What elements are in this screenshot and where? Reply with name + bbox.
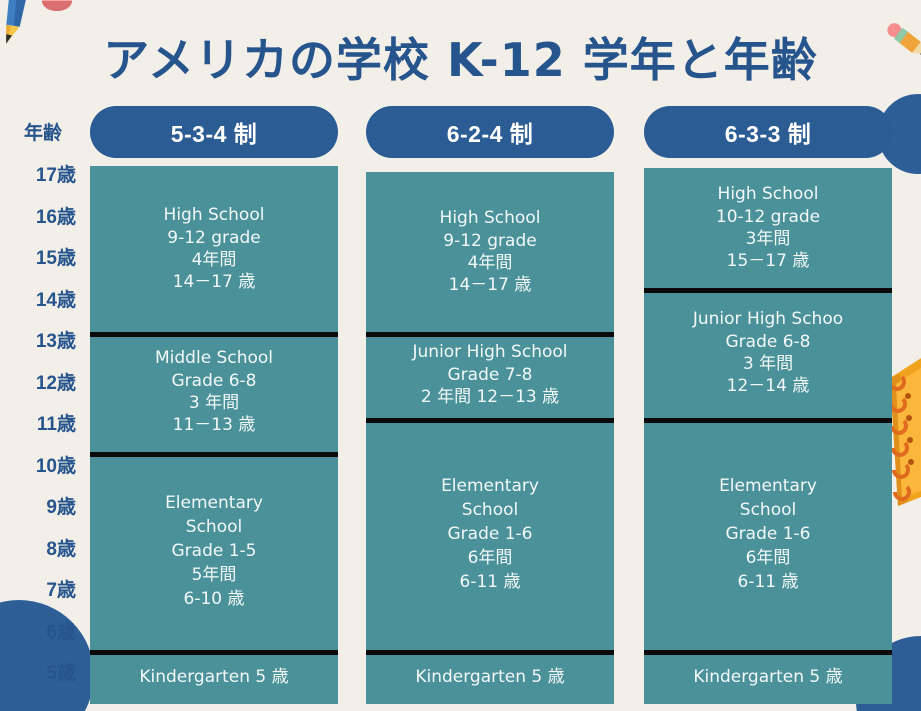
segment-line: Kindergarten 5 歳 — [415, 666, 564, 688]
segment-line: Kindergarten 5 歳 — [139, 666, 288, 688]
segment-system-6-3-3-junior-high-school[interactable]: Junior High SchooGrade 6-83 年間12－14 歳 — [644, 288, 892, 418]
segment-system-6-2-4-junior-high-school[interactable]: Junior High SchoolGrade 7-82 年間 12－13 歳 — [366, 332, 614, 418]
segment-line: Elementary — [719, 474, 817, 498]
age-tick: 5歳 — [0, 664, 86, 683]
segment-line: 4年間 — [468, 252, 513, 274]
segment-system-6-2-4-high-school[interactable]: High School9-12 grade4年間14－17 歳 — [366, 172, 614, 332]
blue-circle-decoration-bottom-left — [0, 600, 94, 711]
age-tick: 13歳 — [0, 332, 86, 351]
column-stack-system-6-3-3: High School10-12 grade3年間15－17 歳Junior H… — [644, 168, 892, 704]
segment-line: Grade 1-6 — [448, 522, 533, 546]
age-tick: 9歳 — [0, 498, 86, 517]
column-stack-system-6-2-4: High School9-12 grade4年間14－17 歳Junior Hi… — [366, 172, 614, 704]
column-stack-system-5-3-4: High School9-12 grade4年間14－17 歳Middle Sc… — [90, 166, 338, 704]
segment-line: 6年間 — [746, 546, 791, 570]
age-tick: 8歳 — [0, 540, 86, 559]
page-title: アメリカの学校 K-12 学年と年齢 — [0, 24, 921, 90]
segment-system-5-3-4-middle-school[interactable]: Middle SchoolGrade 6-83 年間11－13 歳 — [90, 332, 338, 452]
column-header-label: 6-2-4 制 — [447, 115, 534, 149]
segment-line: Elementary — [441, 474, 539, 498]
segment-system-6-3-3-kindergarten[interactable]: Kindergarten 5 歳 — [644, 650, 892, 704]
column-header-system-5-3-4[interactable]: 5-3-4 制 — [90, 106, 338, 158]
segment-line: 6-11 歳 — [460, 570, 521, 594]
age-axis-label: 年齢 — [0, 118, 86, 145]
segment-line: 4年間 — [192, 249, 237, 271]
segment-line: High School — [164, 204, 265, 226]
segment-line: 3年間 — [746, 228, 791, 250]
age-tick: 10歳 — [0, 457, 86, 476]
infographic-poster: アメリカの学校 K-12 学年と年齢 年齢 17歳16歳15歳14歳13歳12歳… — [0, 0, 921, 711]
segment-line: 2 年間 12－13 歳 — [421, 386, 559, 408]
segment-divider — [644, 288, 892, 293]
segment-line: School — [186, 515, 242, 539]
age-tick: 15歳 — [0, 249, 86, 268]
segment-line: School — [462, 498, 518, 522]
segment-system-6-3-3-elementary-school[interactable]: ElementarySchoolGrade 1-66年間6-11 歳 — [644, 418, 892, 650]
segment-line: Grade 7-8 — [448, 364, 533, 386]
segment-line: 6-11 歳 — [738, 570, 799, 594]
segment-line: Grade 1-6 — [726, 522, 811, 546]
segment-line: 15－17 歳 — [727, 250, 810, 272]
segment-line: High School — [440, 207, 541, 229]
segment-system-5-3-4-elementary-school[interactable]: ElementarySchoolGrade 1-55年間6-10 歳 — [90, 452, 338, 650]
column-header-system-6-2-4[interactable]: 6-2-4 制 — [366, 106, 614, 158]
age-tick: 16歳 — [0, 208, 86, 227]
column-header-label: 5-3-4 制 — [171, 115, 258, 149]
segment-system-5-3-4-high-school[interactable]: High School9-12 grade4年間14－17 歳 — [90, 166, 338, 332]
segment-divider — [644, 418, 892, 423]
segment-system-6-2-4-elementary-school[interactable]: ElementarySchoolGrade 1-66年間6-11 歳 — [366, 418, 614, 650]
segment-line: 12－14 歳 — [727, 375, 810, 397]
segment-line: School — [740, 498, 796, 522]
segment-line: Middle School — [155, 347, 273, 369]
segment-line: Junior High Schoo — [693, 308, 843, 330]
age-tick: 17歳 — [0, 166, 86, 185]
age-tick: 7歳 — [0, 581, 86, 600]
segment-line: 3 年間 — [189, 392, 239, 414]
segment-system-6-3-3-high-school[interactable]: High School10-12 grade3年間15－17 歳 — [644, 168, 892, 288]
segment-divider — [90, 452, 338, 457]
segment-line: 10-12 grade — [716, 206, 820, 228]
segment-line: 9-12 grade — [167, 227, 260, 249]
age-tick: 14歳 — [0, 291, 86, 310]
age-tick: 6歳 — [0, 623, 86, 642]
column-header-system-6-3-3[interactable]: 6-3-3 制 — [644, 106, 892, 158]
segment-system-5-3-4-kindergarten[interactable]: Kindergarten 5 歳 — [90, 650, 338, 704]
segment-line: Elementary — [165, 491, 263, 515]
segment-divider — [366, 650, 614, 655]
segment-line: Grade 6-8 — [726, 331, 811, 353]
column-header-label: 6-3-3 制 — [725, 115, 812, 149]
segment-line: 14－17 歳 — [449, 274, 532, 296]
segment-line: 9-12 grade — [443, 230, 536, 252]
segment-line: Grade 6-8 — [172, 370, 257, 392]
segment-line: 6-10 歳 — [184, 587, 245, 611]
segment-divider — [90, 650, 338, 655]
segment-line: 6年間 — [468, 546, 513, 570]
eraser-icon — [40, 0, 74, 14]
segment-divider — [90, 332, 338, 337]
segment-line: 11－13 歳 — [173, 414, 256, 436]
segment-line: High School — [718, 183, 819, 205]
age-tick: 11歳 — [0, 415, 86, 434]
segment-system-6-2-4-kindergarten[interactable]: Kindergarten 5 歳 — [366, 650, 614, 704]
segment-line: 3 年間 — [743, 353, 793, 375]
segment-line: Grade 1-5 — [172, 539, 257, 563]
age-tick: 12歳 — [0, 374, 86, 393]
segment-line: 5年間 — [192, 563, 237, 587]
segment-divider — [366, 332, 614, 337]
segment-line: Junior High School — [413, 341, 568, 363]
segment-divider — [366, 418, 614, 423]
segment-line: 14－17 歳 — [173, 271, 256, 293]
segment-line: Kindergarten 5 歳 — [693, 666, 842, 688]
segment-divider — [644, 650, 892, 655]
